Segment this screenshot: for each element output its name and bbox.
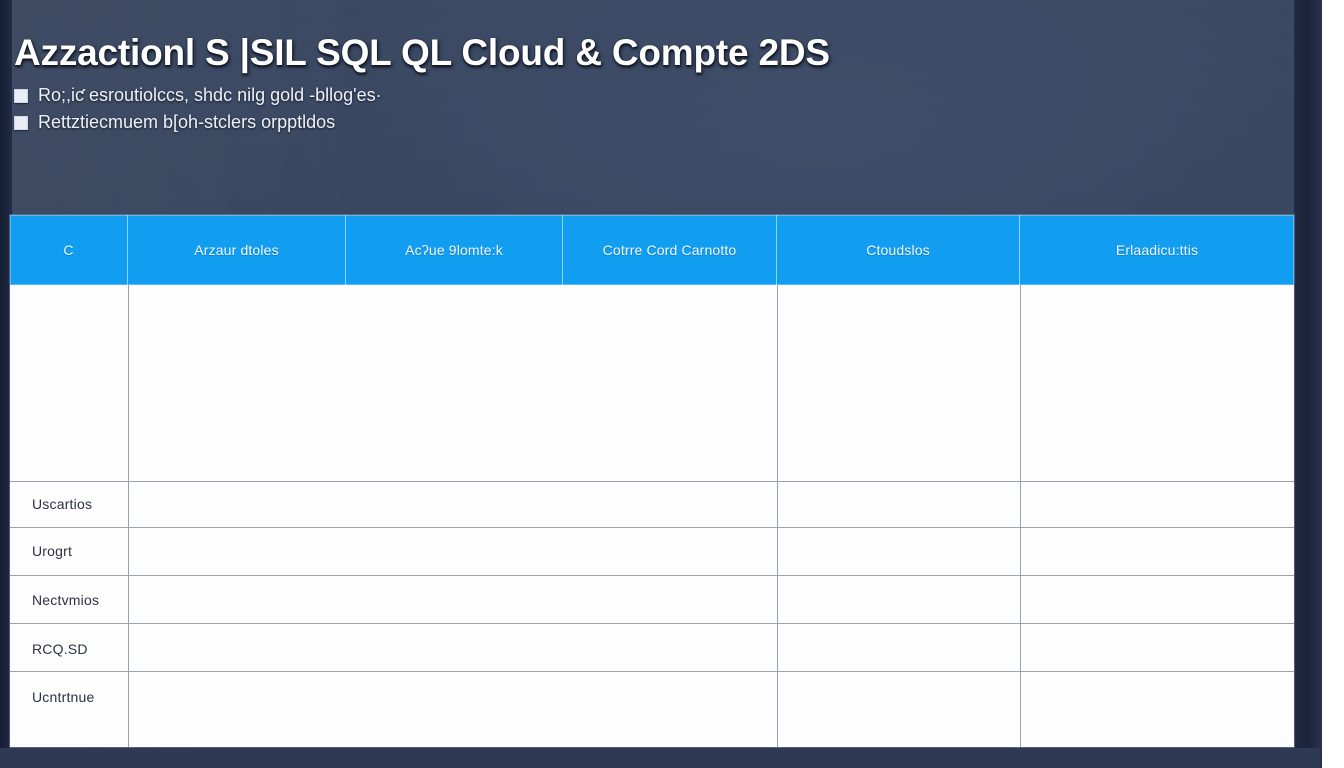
table-row[interactable]: Ucntrtnue (32, 689, 95, 705)
slide-screenshot: Azzactionl S |SIL SQL QL Cloud & Compte … (0, 0, 1344, 768)
right-edge-rail (1294, 0, 1322, 768)
list-item: Rettztiecmuem b[oh-stclers orpptldos (14, 112, 1254, 134)
column-header-4[interactable]: Ctoudslos (777, 215, 1020, 285)
bottom-edge-band (0, 748, 1320, 768)
column-header-2[interactable]: Acʔue 9lomte:k (346, 215, 563, 285)
list-item: Ro;,iƈ esroutiolccs, shdc nilg gold -bll… (14, 85, 1254, 107)
table-row[interactable]: Uscartios (32, 496, 92, 512)
table-row[interactable]: Nectvmios (32, 592, 99, 608)
heading-block: Azzactionl S |SIL SQL QL Cloud & Compte … (14, 34, 1254, 134)
column-header-1[interactable]: Arzaur dtoles (128, 215, 346, 285)
data-table: C Arzaur dtoles Acʔue 9lomte:k Cotrre Co… (10, 215, 1294, 747)
bullet-list: Ro;,iƈ esroutiolccs, shdc nilg gold -bll… (14, 85, 1254, 134)
column-divider (1020, 285, 1021, 747)
bullet-text: Rettztiecmuem b[oh-stclers orpptldos (38, 112, 335, 134)
square-bullet-icon (14, 116, 28, 130)
column-header-0[interactable]: C (10, 215, 128, 285)
column-header-5[interactable]: Erlaadicu:ttis (1020, 215, 1294, 285)
page-title: Azzactionl S |SIL SQL QL Cloud & Compte … (14, 34, 1254, 73)
row-divider (10, 575, 1294, 576)
bullet-text: Ro;,iƈ esroutiolccs, shdc nilg gold -bll… (38, 85, 382, 107)
square-bullet-icon (14, 89, 28, 103)
row-divider (10, 623, 1294, 624)
row-divider (10, 527, 1294, 528)
column-header-3[interactable]: Cotrre Cord Carnotto (563, 215, 777, 285)
table-header-row: C Arzaur dtoles Acʔue 9lomte:k Cotrre Co… (10, 215, 1294, 285)
table-row[interactable]: Urogrt (32, 543, 72, 559)
table-row[interactable]: RCQ.SD (32, 641, 88, 657)
column-divider (777, 285, 778, 747)
row-divider (10, 671, 1294, 672)
table-body: Uscartios Urogrt Nectvmios RCQ.SD Ucntrt… (10, 285, 1294, 747)
row-divider (10, 481, 1294, 482)
column-divider (128, 285, 129, 747)
